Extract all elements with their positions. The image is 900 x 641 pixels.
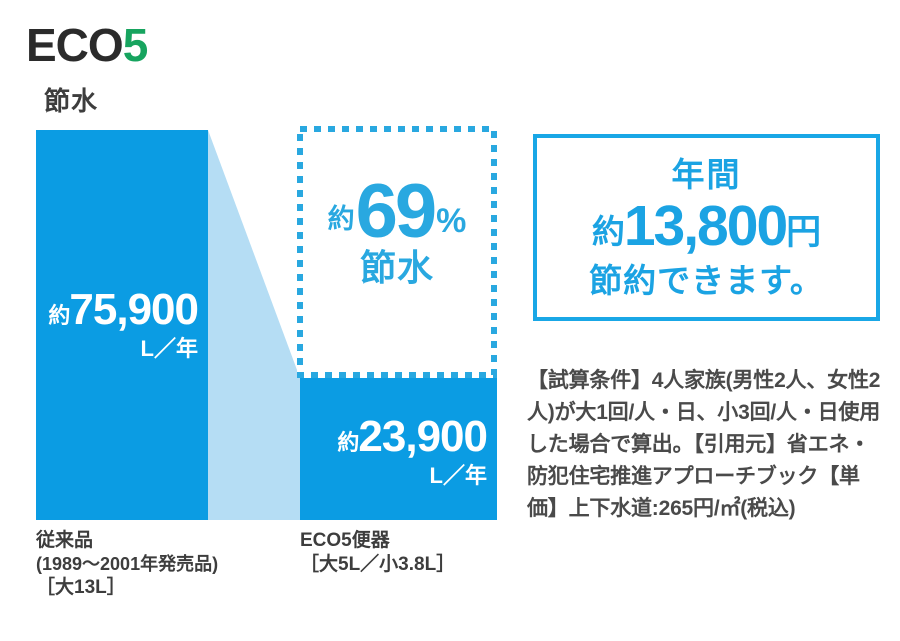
saving-percent-callout: 約 69 % 節水 — [297, 126, 497, 378]
bar-value-approx-conventional: 約 — [48, 305, 69, 332]
bar-value-unit-conventional: L／年 — [46, 338, 198, 360]
water-saving-bar-chart: 約 75,900 L／年 約 23,900 L／年 約 69 % 節水 従来品 … — [0, 0, 520, 641]
callout-percent-sign: % — [436, 204, 466, 246]
caption-conventional-line2: (1989〜2001年発売品) — [36, 553, 218, 576]
callout-label: 節水 — [297, 250, 497, 286]
bar-value-approx-eco5: 約 — [337, 432, 358, 459]
bar-value-unit-eco5: L／年 — [310, 465, 487, 487]
bar-value-eco5: 約 23,900 L／年 — [310, 415, 487, 487]
savings-period-label: 年間 — [537, 158, 876, 191]
annual-savings-box: 年間 約 13,800 円 節約できます。 — [533, 134, 880, 321]
bar-value-number-conventional: 75,900 — [69, 288, 198, 332]
bar-caption-conventional: 従来品 (1989〜2001年発売品) ［大13L］ — [36, 529, 218, 601]
savings-currency: 円 — [786, 215, 821, 253]
savings-amount: 13,800 — [624, 199, 786, 253]
caption-eco5-line2: ［大5L／小3.8L］ — [300, 553, 455, 577]
callout-approx: 約 — [328, 206, 354, 246]
caption-eco5-line1: ECO5便器 — [300, 529, 455, 553]
bar-caption-eco5: ECO5便器 ［大5L／小3.8L］ — [300, 529, 455, 578]
savings-amount-row: 約 13,800 円 — [537, 199, 876, 253]
bar-value-number-eco5: 23,900 — [358, 415, 487, 459]
callout-percent-number: 69 — [356, 178, 435, 246]
caption-conventional-line1: 従来品 — [36, 529, 218, 553]
bar-value-conventional: 約 75,900 L／年 — [46, 288, 198, 360]
savings-approx: 約 — [592, 215, 624, 253]
caption-conventional-line3: ［大13L］ — [36, 576, 218, 600]
savings-tail-text: 節約できます。 — [537, 264, 876, 297]
calculation-conditions-footnote: 【試算条件】4人家族(男性2人、女性2人)が大1回/人・日、小3回/人・日使用し… — [527, 365, 889, 525]
bar-connector-wedge — [208, 130, 300, 520]
